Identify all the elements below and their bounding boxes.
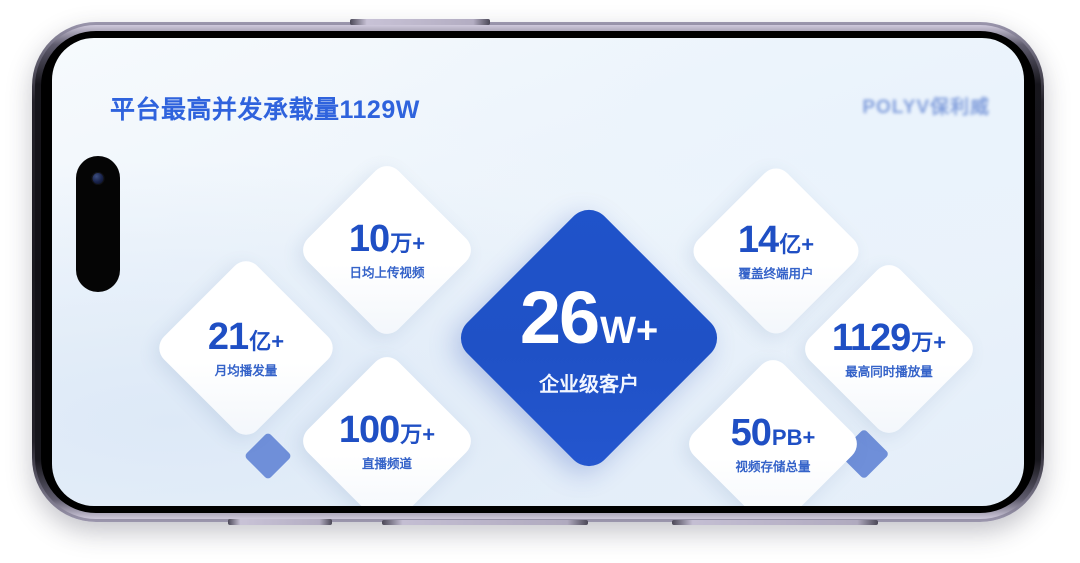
stat-content: 21 亿+ 月均播发量 [180, 282, 312, 414]
stat-number: 50 [731, 414, 771, 452]
stat-unit: PB+ [772, 427, 815, 449]
stat-card-live-channels[interactable]: 100 万+ 直播频道 [296, 350, 477, 506]
side-button-tertiary[interactable] [672, 520, 878, 525]
side-button-secondary[interactable] [382, 520, 588, 525]
stat-value: 26 W+ [520, 281, 658, 355]
stat-unit: 亿+ [779, 234, 814, 256]
brand-logo: POLYV保利威 [820, 94, 990, 116]
stat-label: 直播频道 [362, 458, 412, 471]
stat-content: 10 万+ 日均上传视频 [323, 186, 451, 314]
stat-value: 1129 万+ [832, 319, 946, 357]
stat-card-daily-upload[interactable]: 10 万+ 日均上传视频 [296, 159, 477, 340]
page-title: 平台最高并发承载量1129W [110, 90, 420, 126]
phone-screen: 平台最高并发承载量1129W POLYV保利威 21 亿+ 月均播发量 [52, 38, 1024, 506]
stat-content: 14 亿+ 覆盖终端用户 [713, 188, 839, 314]
stat-number: 14 [738, 221, 778, 259]
stat-value: 100 万+ [339, 411, 435, 449]
stat-number: 1129 [832, 319, 910, 357]
stat-unit: 亿+ [249, 331, 284, 353]
stat-value: 14 亿+ [738, 221, 814, 259]
stat-content: 100 万+ 直播频道 [323, 377, 451, 505]
stat-unit: 万+ [911, 332, 946, 354]
dynamic-island [76, 156, 120, 292]
stat-content: 50 PB+ 视频存储总量 [709, 380, 837, 506]
stat-unit: 万+ [400, 424, 435, 446]
stat-label: 覆盖终端用户 [738, 268, 813, 281]
stat-label: 企业级客户 [539, 375, 639, 395]
stat-number: 21 [208, 318, 248, 356]
accent-diamond-left [244, 432, 292, 480]
stat-label: 日均上传视频 [349, 267, 424, 280]
stat-number: 100 [339, 411, 399, 449]
power-button[interactable] [228, 519, 332, 525]
stat-label: 最高同时播放量 [845, 366, 933, 379]
phone-device-frame: 平台最高并发承载量1129W POLYV保利威 21 亿+ 月均播发量 [32, 22, 1044, 522]
stat-value: 50 PB+ [731, 414, 816, 452]
stat-unit: 万+ [390, 233, 425, 255]
stat-card-enterprise-clients[interactable]: 26 W+ 企业级客户 [452, 201, 726, 475]
stat-value: 10 万+ [349, 220, 425, 258]
volume-button[interactable] [350, 19, 490, 25]
stat-unit: W+ [600, 312, 658, 350]
stat-value: 21 亿+ [208, 318, 284, 356]
stat-number: 26 [520, 281, 598, 355]
screenshot-stage: 平台最高并发承载量1129W POLYV保利威 21 亿+ 月均播发量 [0, 0, 1080, 563]
stat-number: 10 [349, 220, 389, 258]
stat-content: 26 W+ 企业级客户 [492, 241, 686, 435]
front-camera-icon [92, 172, 105, 185]
stat-card-monthly-broadcast[interactable]: 21 亿+ 月均播发量 [153, 255, 340, 442]
stat-label: 视频存储总量 [735, 461, 810, 474]
stat-label: 月均播发量 [215, 365, 278, 378]
stat-content: 1129 万+ 最高同时播放量 [825, 285, 953, 413]
